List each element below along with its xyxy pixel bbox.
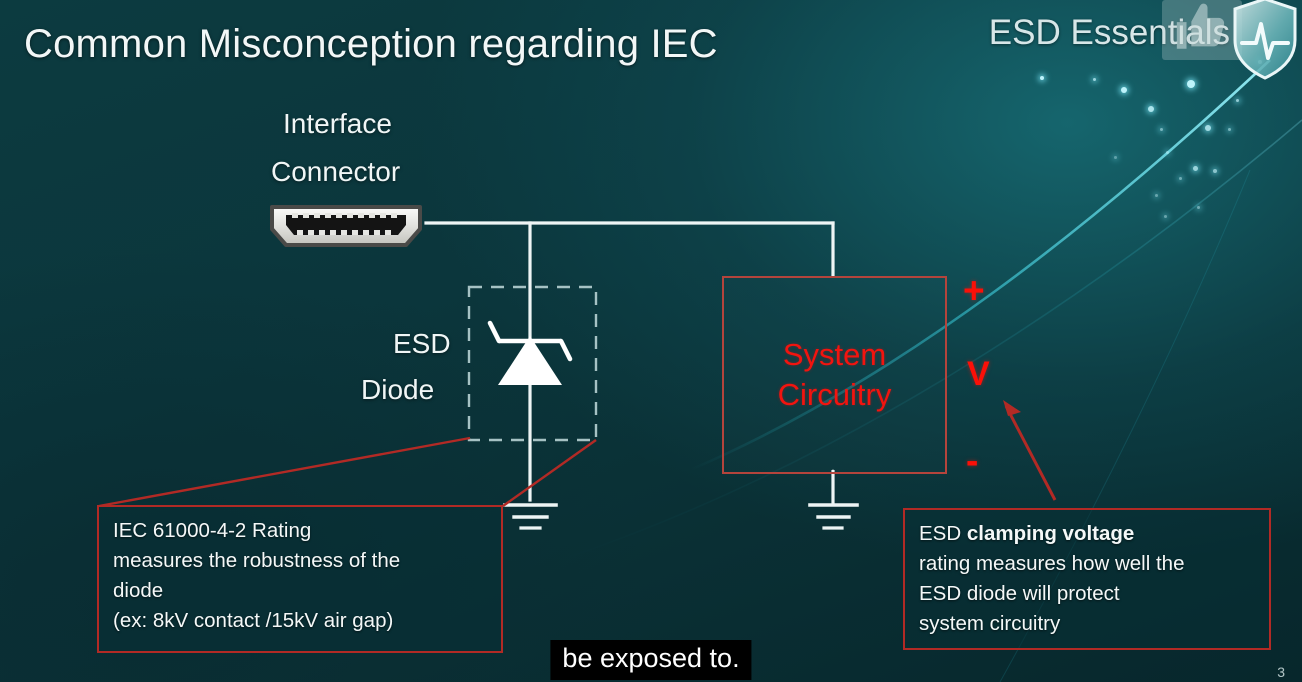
slide-canvas: Common Misconception regarding IEC ESD E… — [0, 0, 1302, 682]
shield-heartbeat-icon — [1230, 0, 1300, 82]
sparkle-dot — [1193, 166, 1198, 171]
callout-leader-lines — [99, 438, 596, 506]
esd-label: ESD — [393, 328, 451, 360]
video-caption: be exposed to. — [550, 640, 751, 680]
callout-right-line1-bold: clamping voltage — [967, 522, 1134, 545]
system-circuitry-box: System Circuitry — [722, 276, 947, 474]
polarity-plus: + — [963, 270, 985, 312]
esd-diode-dashed-box — [469, 287, 596, 440]
sparkle-dot — [1093, 78, 1096, 81]
callout-right-line2: rating measures how well the — [919, 549, 1256, 579]
sparkle-dot — [1166, 151, 1169, 154]
ground-symbol-icon — [505, 505, 556, 528]
system-circuitry-line2: Circuitry — [778, 375, 892, 415]
zener-diode-icon — [490, 323, 570, 385]
callout-left-line2: measures the robustness of the — [113, 546, 488, 576]
page-number: 3 — [1277, 664, 1285, 680]
system-circuitry-line1: System — [783, 335, 886, 375]
slide-title: Common Misconception regarding IEC — [24, 22, 718, 67]
callout-right-line4: system circuitry — [919, 609, 1256, 639]
sparkle-dot — [1228, 128, 1231, 131]
sparkle-dot — [1205, 125, 1211, 131]
callout-right-line3: ESD diode will protect — [919, 579, 1256, 609]
sparkle-dot — [1160, 128, 1163, 131]
clamping-voltage-callout: ESD clamping voltage rating measures how… — [903, 508, 1271, 650]
callout-right-line1-normal: ESD — [919, 522, 967, 545]
diode-label: Diode — [361, 374, 434, 406]
callout-right-line1: ESD clamping voltage — [919, 519, 1256, 549]
sparkle-dot — [1197, 206, 1200, 209]
sparkle-dot — [1179, 177, 1182, 180]
sparkle-dot — [1187, 80, 1195, 88]
iec-rating-callout: IEC 61000-4-2 Rating measures the robust… — [97, 505, 503, 653]
sparkle-dot — [1121, 87, 1127, 93]
callout-left-line1: IEC 61000-4-2 Rating — [113, 516, 488, 546]
sparkle-dot — [1236, 99, 1239, 102]
clamping-voltage-arrow — [1003, 400, 1055, 500]
sparkle-dot — [1148, 106, 1154, 112]
sparkle-dot — [1040, 76, 1044, 80]
connector-label: Connector — [271, 156, 400, 188]
sparkle-dot — [1164, 215, 1167, 218]
sparkle-dot — [1213, 169, 1217, 173]
thumbs-up-icon — [1172, 0, 1230, 56]
sparkle-dot — [1114, 156, 1117, 159]
polarity-minus: - — [966, 440, 978, 482]
interface-label: Interface — [283, 108, 392, 140]
ground-symbol-icon — [810, 470, 857, 528]
callout-left-line4: (ex: 8kV contact /15kV air gap) — [113, 606, 488, 636]
polarity-voltage: V — [967, 355, 990, 394]
hdmi-connector-icon — [266, 203, 426, 249]
sparkle-dot — [1155, 194, 1158, 197]
callout-left-line3: diode — [113, 576, 488, 606]
